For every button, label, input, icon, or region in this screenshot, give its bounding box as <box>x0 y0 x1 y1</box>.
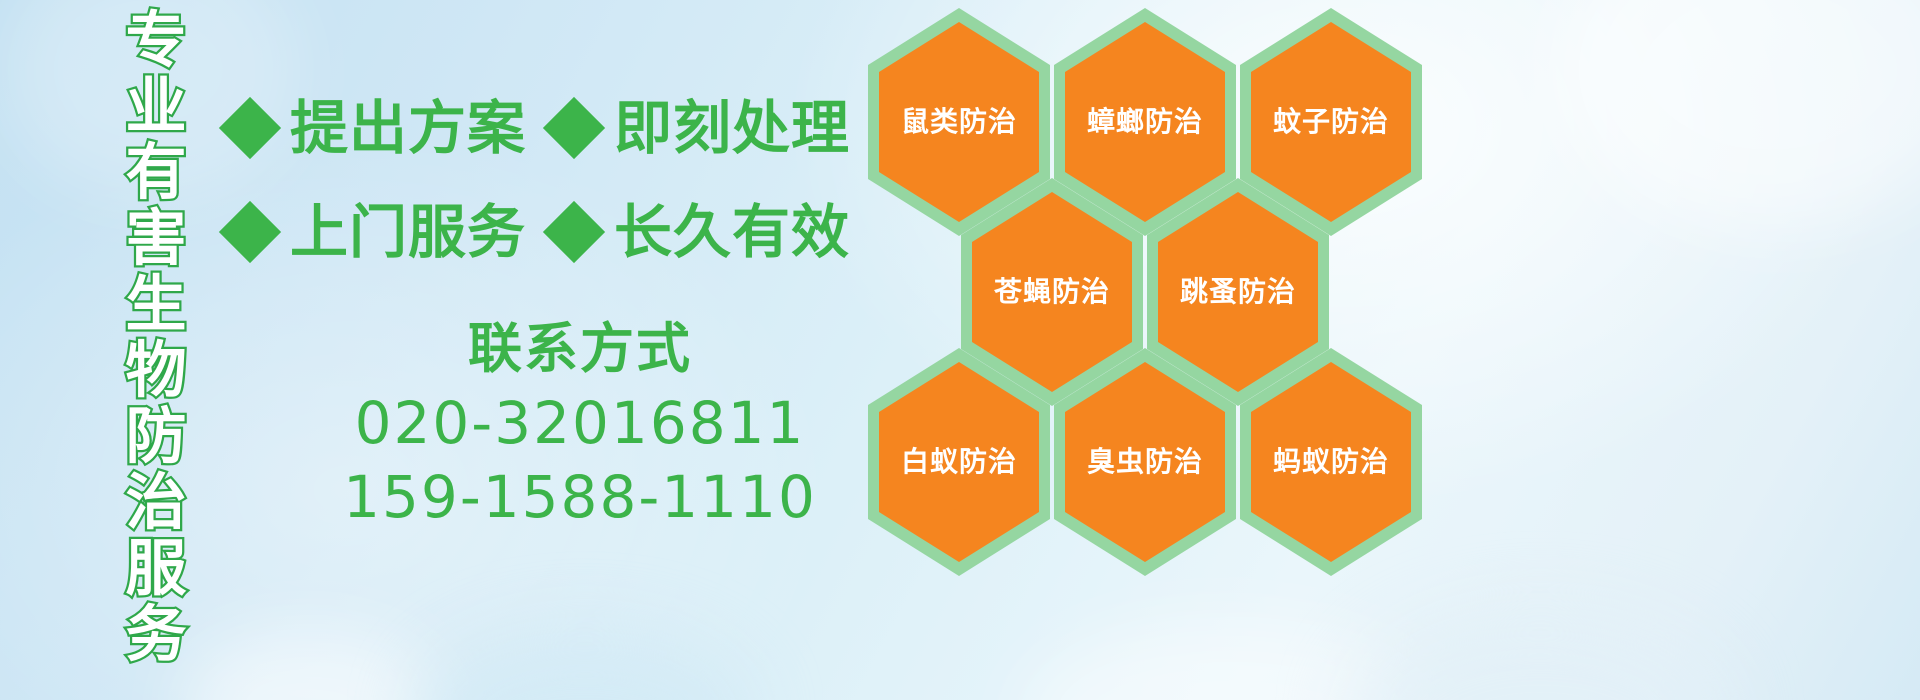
service-hexagon-label: 鼠类防治 <box>901 107 1017 137</box>
feature-bullet-list: 提出方案 即刻处理 上门服务 长久有效 <box>228 76 868 284</box>
service-hexagon-label: 蟑螂防治 <box>1087 107 1203 137</box>
service-hexagon-label: 臭虫防治 <box>1087 447 1203 477</box>
hexagon-inner: 臭虫防治 <box>1065 362 1225 562</box>
feature-bullet-row: 提出方案 即刻处理 <box>228 76 868 180</box>
feature-bullet-label: 提出方案 <box>290 99 526 157</box>
feature-bullet-item: 长久有效 <box>552 203 850 261</box>
service-hexagon-label: 蚊子防治 <box>1273 107 1389 137</box>
diamond-icon <box>219 201 281 263</box>
diamond-icon <box>219 97 281 159</box>
feature-bullet-row: 上门服务 长久有效 <box>228 180 868 284</box>
service-hexagon-label: 跳蚤防治 <box>1180 277 1296 307</box>
contact-block: 联系方式 020-32016811 159-1588-1110 <box>300 318 860 534</box>
vertical-headline-char: 业 <box>125 74 186 140</box>
background-blob <box>1020 620 1440 700</box>
feature-bullet-label: 即刻处理 <box>614 99 850 157</box>
feature-bullet-item: 提出方案 <box>228 99 526 157</box>
hexagon-inner: 蟑螂防治 <box>1065 22 1225 222</box>
vertical-headline-char: 治 <box>125 470 186 536</box>
hexagon-inner: 苍蝇防治 <box>972 192 1132 392</box>
vertical-headline: 专 业 有 害 生 物 防 治 服 务 <box>100 8 212 568</box>
service-hexagon-label: 苍蝇防治 <box>994 277 1110 307</box>
vertical-headline-char: 有 <box>125 140 186 206</box>
feature-bullet-label: 长久有效 <box>614 203 850 261</box>
promo-banner: 专 业 有 害 生 物 防 治 服 务 提出方案 即刻处理 上门服务 <box>0 0 1920 700</box>
hexagon-inner: 鼠类防治 <box>879 22 1039 222</box>
vertical-headline-char: 防 <box>125 404 186 470</box>
contact-title: 联系方式 <box>300 318 860 380</box>
service-hexagon-grid: 鼠类防治 蟑螂防治 蚊子防治 苍蝇防治 跳蚤防治 白蚁防治 <box>860 0 1460 580</box>
hexagon-inner: 蚂蚁防治 <box>1251 362 1411 562</box>
feature-bullet-label: 上门服务 <box>290 203 526 261</box>
background-blob <box>1350 610 1730 700</box>
hexagon-inner: 蚊子防治 <box>1251 22 1411 222</box>
service-hexagon-label: 蚂蚁防治 <box>1273 447 1389 477</box>
vertical-headline-char: 害 <box>125 206 186 272</box>
contact-phone-mobile[interactable]: 159-1588-1110 <box>300 460 860 534</box>
hexagon-inner: 白蚁防治 <box>879 362 1039 562</box>
vertical-headline-char: 生 <box>125 272 186 338</box>
feature-bullet-item: 上门服务 <box>228 203 526 261</box>
service-hexagon-label: 白蚁防治 <box>901 447 1017 477</box>
vertical-headline-char: 务 <box>125 602 186 668</box>
vertical-headline-char: 专 <box>125 8 186 74</box>
vertical-headline-char: 物 <box>125 338 186 404</box>
vertical-headline-char: 服 <box>125 536 186 602</box>
contact-phone-landline[interactable]: 020-32016811 <box>300 386 860 460</box>
background-blob <box>180 630 440 700</box>
feature-bullet-item: 即刻处理 <box>552 99 850 157</box>
background-blob <box>1560 0 1920 230</box>
background-blob <box>420 630 750 700</box>
diamond-icon <box>543 201 605 263</box>
hexagon-inner: 跳蚤防治 <box>1158 192 1318 392</box>
diamond-icon <box>543 97 605 159</box>
